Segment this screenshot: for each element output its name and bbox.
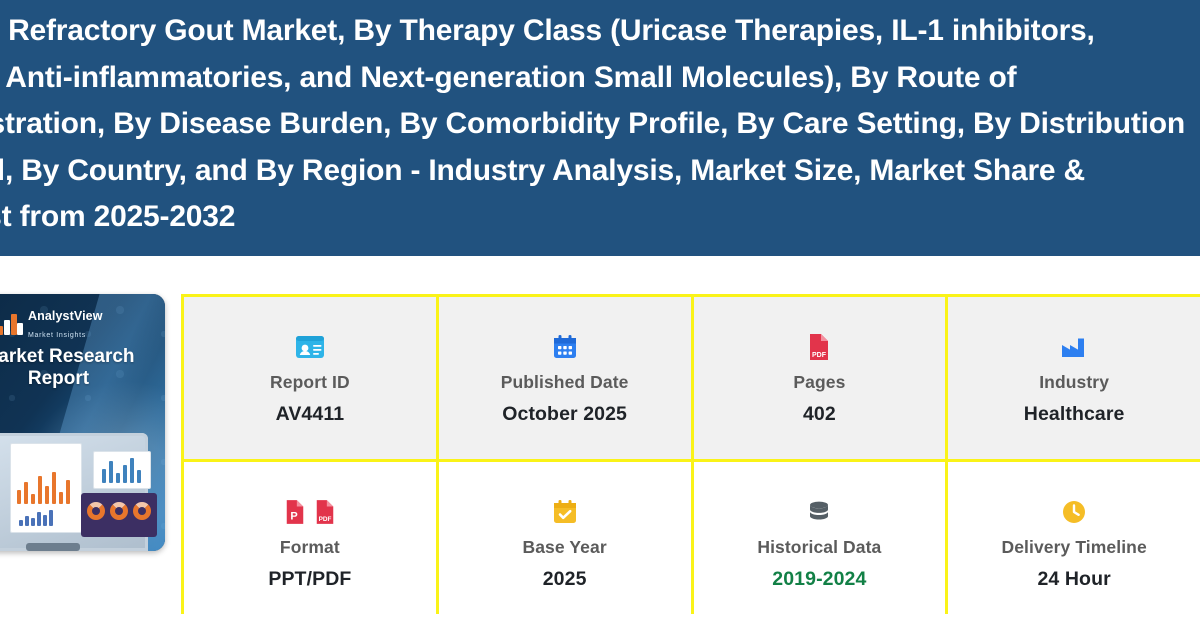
meta-value: 2019-2024	[772, 568, 866, 591]
meta-label: Base Year	[522, 537, 606, 558]
meta-value: AV4411	[276, 403, 345, 426]
logo-name: AnalystView	[28, 309, 103, 323]
meta-value: Healthcare	[1024, 403, 1125, 426]
svg-text:PDF: PDF	[318, 516, 331, 523]
cover-donut-panel-icon	[81, 493, 157, 537]
factory-icon	[1060, 330, 1088, 364]
logo-tagline: Market Insights	[28, 332, 86, 339]
ppt-file-icon: P	[284, 499, 306, 525]
cover-report-page-icon	[10, 443, 82, 533]
page-header: Chronic Refractory Gout Market, By Thera…	[0, 0, 1200, 256]
meta-cell-published-date: Published Date October 2025	[439, 297, 691, 459]
report-cover-thumbnail[interactable]: AnalystView Market Insights Market Resea…	[0, 294, 165, 551]
meta-value: PPT/PDF	[268, 568, 351, 591]
calendar-icon	[552, 330, 578, 364]
database-icon	[806, 495, 832, 529]
analystview-logo-icon	[0, 313, 22, 337]
meta-value: 24 Hour	[1037, 568, 1110, 591]
meta-label: Format	[280, 537, 340, 558]
page-title: Chronic Refractory Gout Market, By Thera…	[0, 8, 1200, 241]
id-card-icon	[295, 330, 325, 364]
calendar-check-icon	[552, 495, 578, 529]
clock-icon	[1061, 495, 1087, 529]
meta-label: Pages	[793, 372, 845, 393]
cover-bar-chart-icon	[93, 451, 151, 489]
pdf-file-icon: PDF	[807, 330, 831, 364]
meta-cell-report-id: Report ID AV4411	[184, 297, 436, 459]
meta-label: Historical Data	[757, 537, 881, 558]
meta-value: 402	[803, 403, 836, 426]
report-cover-image: AnalystView Market Insights Market Resea…	[0, 294, 165, 551]
meta-cell-pages: PDF Pages 402	[694, 297, 946, 459]
meta-value: 2025	[543, 568, 587, 591]
cover-heading: Market Research Report	[0, 346, 165, 390]
meta-label: Delivery Timeline	[1001, 537, 1146, 558]
pdf-file-icon: PDF	[314, 499, 336, 525]
analystview-logo: AnalystView Market Insights	[0, 308, 103, 342]
svg-text:P: P	[290, 510, 297, 522]
meta-cell-industry: Industry Healthcare	[948, 297, 1200, 459]
report-summary-section: AnalystView Market Insights Market Resea…	[0, 256, 1200, 600]
svg-text:PDF: PDF	[812, 352, 827, 359]
meta-label: Industry	[1039, 372, 1109, 393]
meta-value: October 2025	[502, 403, 627, 426]
meta-label: Published Date	[501, 372, 629, 393]
ppt-pdf-files-icon: P PDF	[284, 495, 336, 529]
report-meta-grid: Report ID AV4411	[181, 294, 1200, 614]
cover-illustration	[0, 421, 165, 551]
meta-label: Report ID	[270, 372, 350, 393]
